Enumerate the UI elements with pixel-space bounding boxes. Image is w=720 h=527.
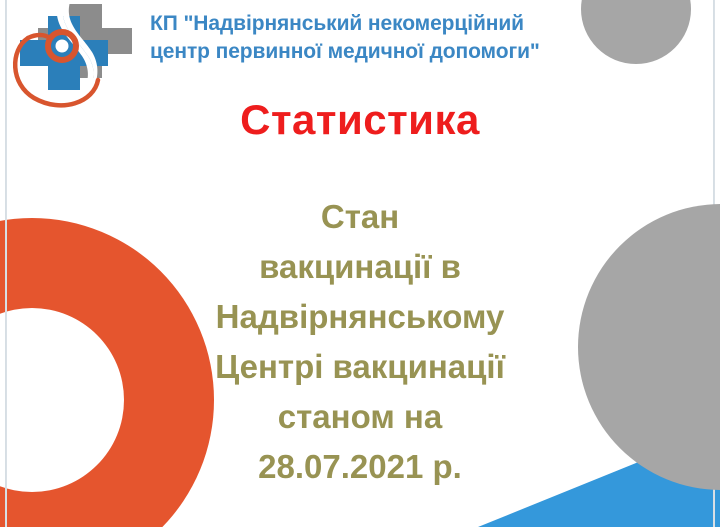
- page-title: Статистика: [0, 96, 720, 144]
- organization-name-line-1: КП "Надвірнянський некомерційний: [150, 10, 590, 38]
- body-line-6: 28.07.2021 р.: [120, 442, 600, 492]
- body-line-4: Центрі вакцинації: [120, 342, 600, 392]
- organization-name: КП "Надвірнянський некомерційний центр п…: [150, 10, 590, 67]
- clinic-logo: [8, 2, 150, 110]
- body-line-1: Стан: [120, 192, 600, 242]
- page-edge-line-left: [5, 0, 7, 527]
- presentation-slide: КП "Надвірнянський некомерційний центр п…: [0, 0, 720, 527]
- body-line-2: вакцинації в: [120, 242, 600, 292]
- grey-circle-top-right-shape: [581, 0, 691, 64]
- slide-body-text: Стан вакцинації в Надвірнянському Центрі…: [120, 192, 600, 492]
- body-line-5: станом на: [120, 392, 600, 442]
- organization-name-line-2: центр первинної медичної допомоги": [150, 38, 590, 66]
- body-line-3: Надвірнянському: [120, 292, 600, 342]
